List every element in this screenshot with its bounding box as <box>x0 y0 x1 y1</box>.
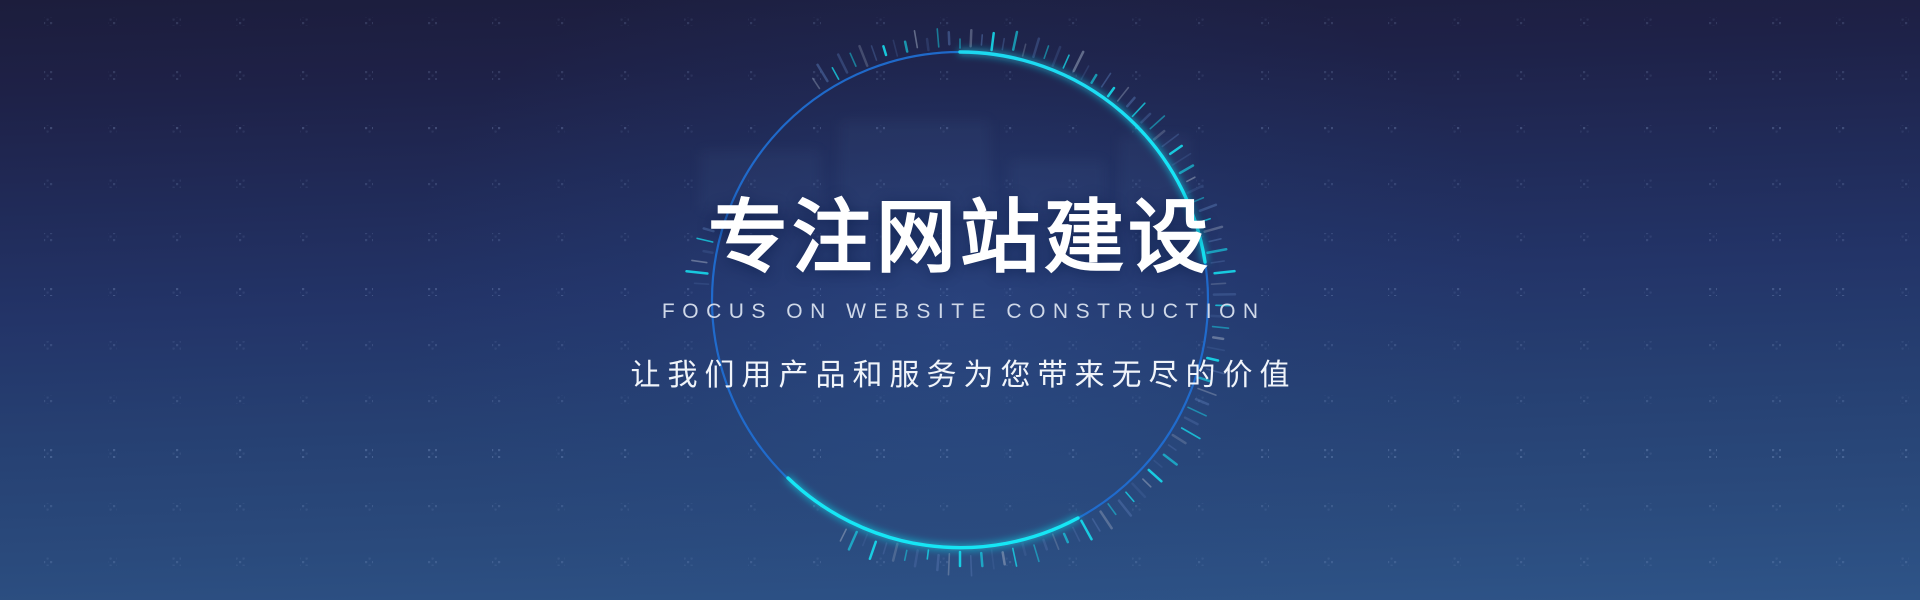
banner-text-block: 专注网站建设 FOCUS ON WEBSITE CONSTRUCTION 让我们… <box>0 198 1920 394</box>
page-title: 专注网站建设 <box>0 198 1920 278</box>
subtitle-english: FOCUS ON WEBSITE CONSTRUCTION <box>0 300 1920 324</box>
hero-banner: 专注网站建设 FOCUS ON WEBSITE CONSTRUCTION 让我们… <box>0 0 1920 600</box>
cyan-arc-bottom-left <box>788 478 1078 548</box>
tagline: 让我们用产品和服务为您带来无尽的价值 <box>0 350 1920 394</box>
